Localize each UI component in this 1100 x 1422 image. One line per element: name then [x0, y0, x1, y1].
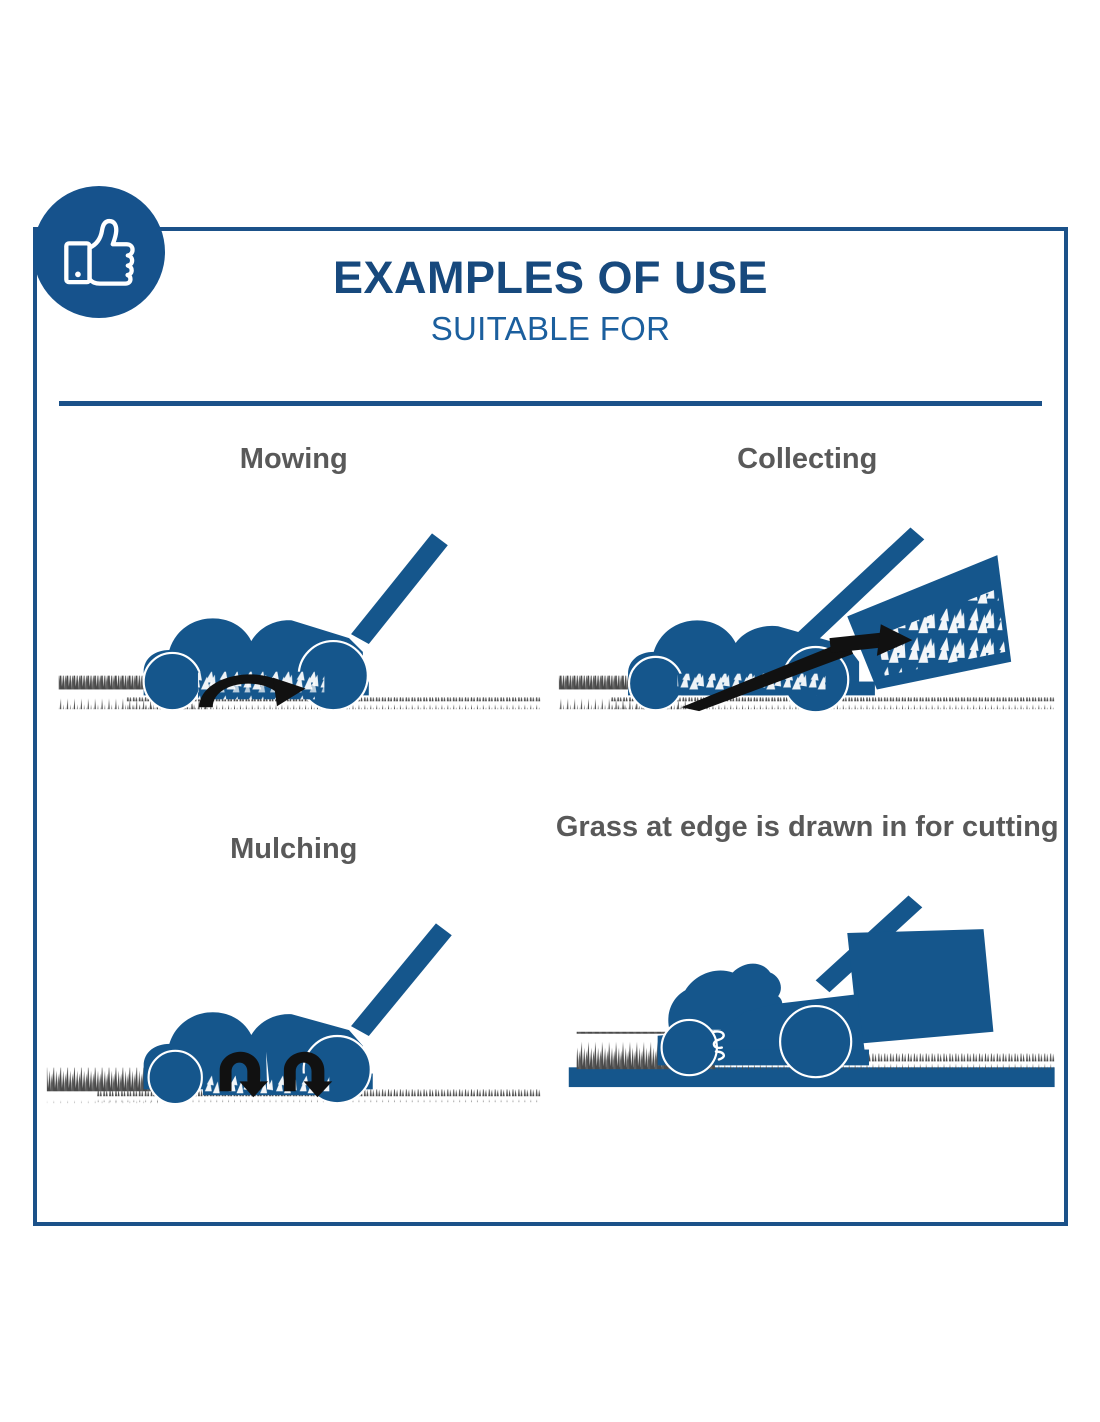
illustration-edge-cutting	[551, 856, 1065, 1103]
header-divider	[59, 401, 1042, 406]
panel-label-edge-cutting: Grass at edge is drawn in for cutting	[551, 809, 1065, 846]
page-title: EXAMPLES OF USE	[37, 253, 1064, 303]
panel-edge-cutting: Grass at edge is drawn in for cutting	[551, 809, 1065, 1102]
page-subtitle: SUITABLE FOR	[37, 309, 1064, 349]
illustration-collecting	[551, 488, 1065, 735]
panel-collecting: Collecting	[551, 441, 1065, 734]
illustration-mowing	[37, 488, 551, 735]
panel-label-collecting: Collecting	[551, 441, 1065, 478]
thumbs-up-icon	[56, 209, 142, 295]
panel-mulching: Mulching	[37, 831, 551, 1124]
panel-mowing: Mowing	[37, 441, 551, 734]
header: EXAMPLES OF USE SUITABLE FOR	[37, 253, 1064, 349]
examples-grid: Mowing	[37, 441, 1064, 1221]
illustration-mulching	[37, 878, 551, 1125]
panel-label-mowing: Mowing	[37, 441, 551, 478]
infographic-page: EXAMPLES OF USE SUITABLE FOR Mowing	[0, 0, 1100, 1422]
panel-label-mulching: Mulching	[37, 831, 551, 868]
thumbs-up-badge	[33, 186, 165, 318]
content-frame: EXAMPLES OF USE SUITABLE FOR Mowing	[33, 227, 1068, 1226]
